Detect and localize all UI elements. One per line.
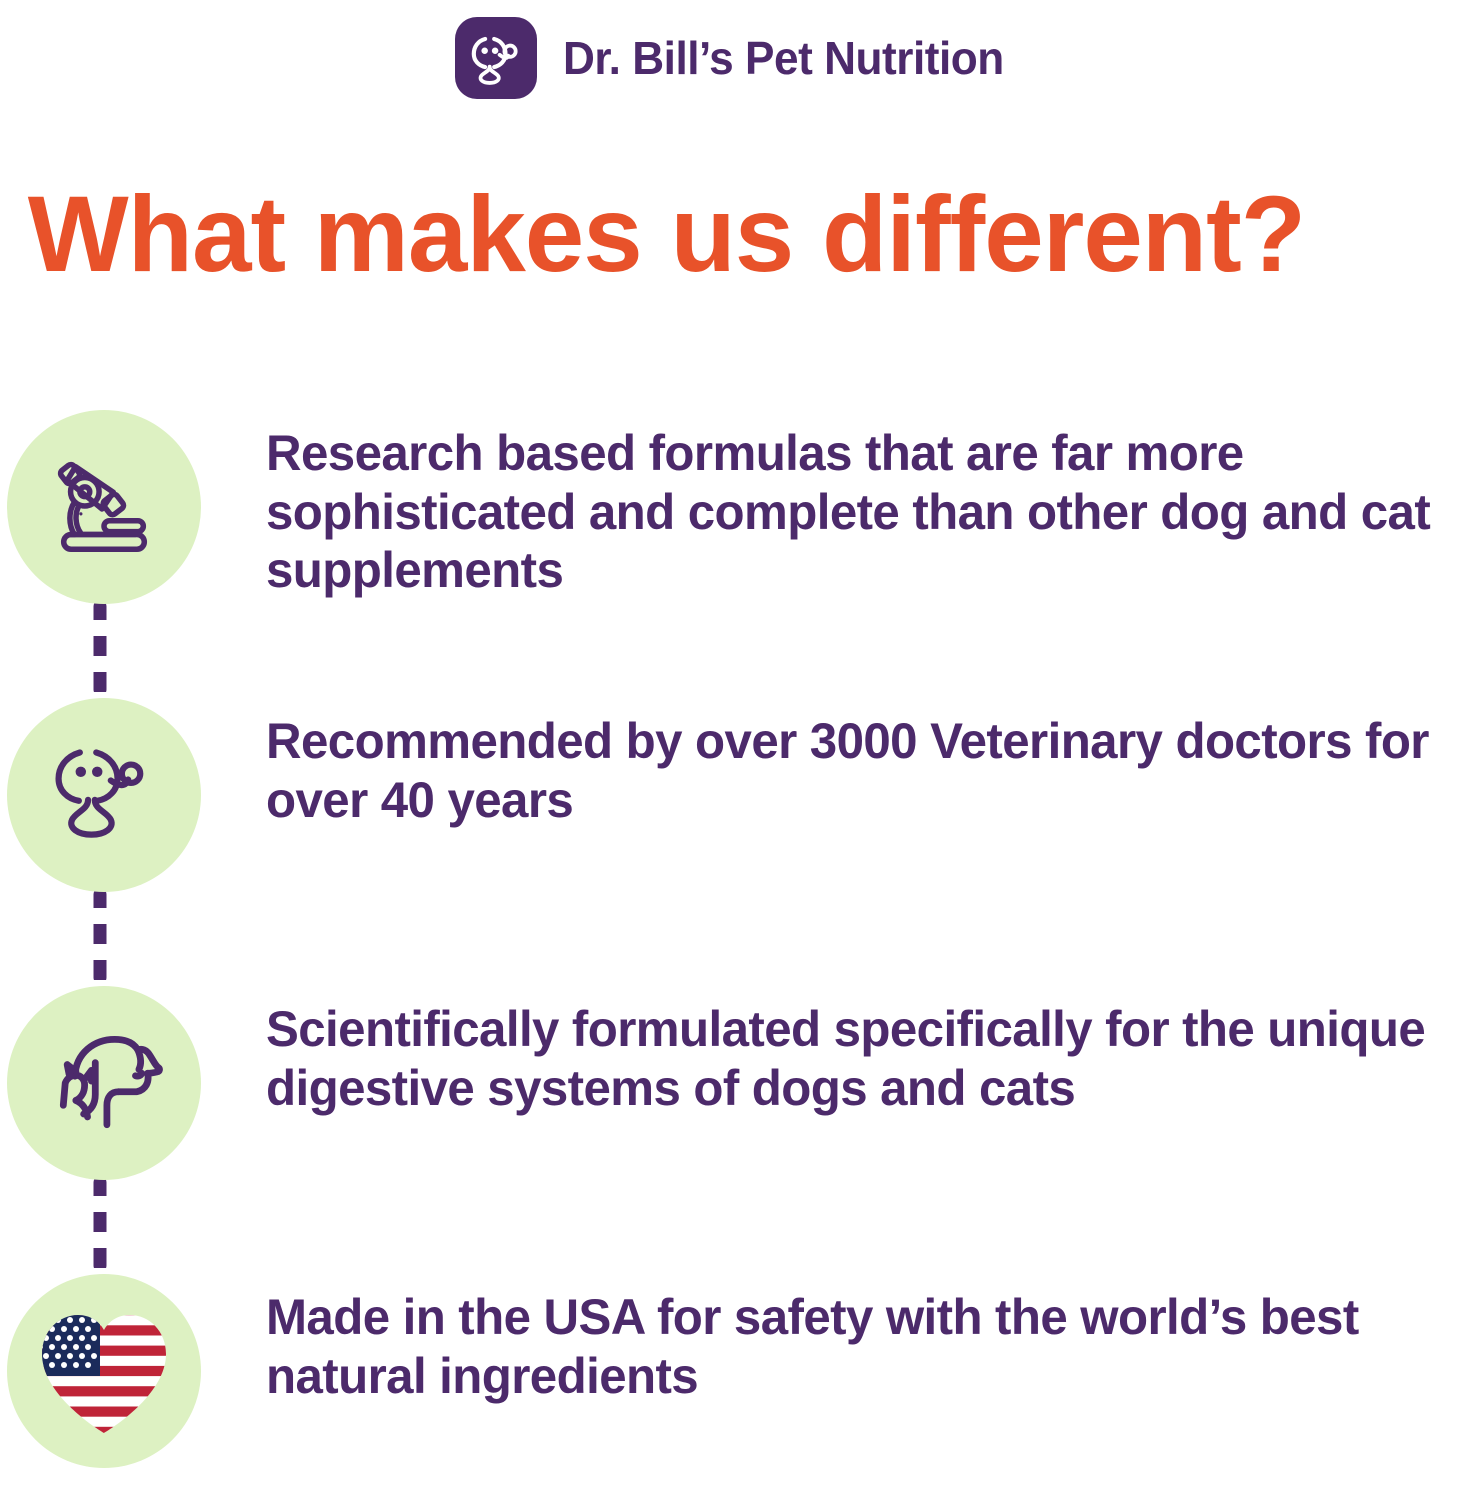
text-column: Recommended by over 3000 Veterinary doct… (216, 698, 1478, 829)
dog-and-cat-icon (41, 1020, 167, 1146)
text-column: Research based formulas that are far mor… (216, 410, 1478, 600)
microscope-icon (45, 448, 163, 566)
icon-column (0, 410, 216, 604)
icon-column (0, 986, 216, 1180)
icon-column (0, 698, 216, 892)
page-title: What makes us different? (0, 180, 1305, 288)
feature-item-formulated: Scientifically formulated specifically f… (0, 986, 1478, 1182)
usa-flag-heart-icon (34, 1305, 174, 1437)
text-column: Scientifically formulated specifically f… (216, 986, 1478, 1117)
connector-dashed-line (94, 600, 107, 696)
text-column: Made in the USA for safety with the worl… (216, 1274, 1478, 1405)
stethoscope-face-icon (467, 29, 525, 87)
logo-mark (455, 17, 537, 99)
feature-text: Scientifically formulated specifically f… (266, 1000, 1440, 1117)
feature-text: Research based formulas that are far mor… (266, 424, 1440, 600)
icon-badge (7, 1274, 201, 1468)
feature-item-recommended: Recommended by over 3000 Veterinary doct… (0, 698, 1478, 894)
feature-text: Made in the USA for safety with the worl… (266, 1288, 1440, 1405)
icon-column (0, 1274, 216, 1468)
connector-dashed-line (94, 888, 107, 984)
icon-badge (7, 410, 201, 604)
feature-item-made-in-usa: Made in the USA for safety with the worl… (0, 1274, 1478, 1470)
feature-list: Research based formulas that are far mor… (0, 410, 1478, 1470)
icon-badge (7, 698, 201, 892)
icon-badge (7, 986, 201, 1180)
stethoscope-icon (46, 737, 162, 853)
brand-header: Dr. Bill’s Pet Nutrition (0, 0, 1478, 110)
connector-dashed-line (94, 1176, 107, 1272)
feature-item-research: Research based formulas that are far mor… (0, 410, 1478, 606)
feature-text: Recommended by over 3000 Veterinary doct… (266, 712, 1440, 829)
brand-name: Dr. Bill’s Pet Nutrition (563, 31, 1004, 85)
